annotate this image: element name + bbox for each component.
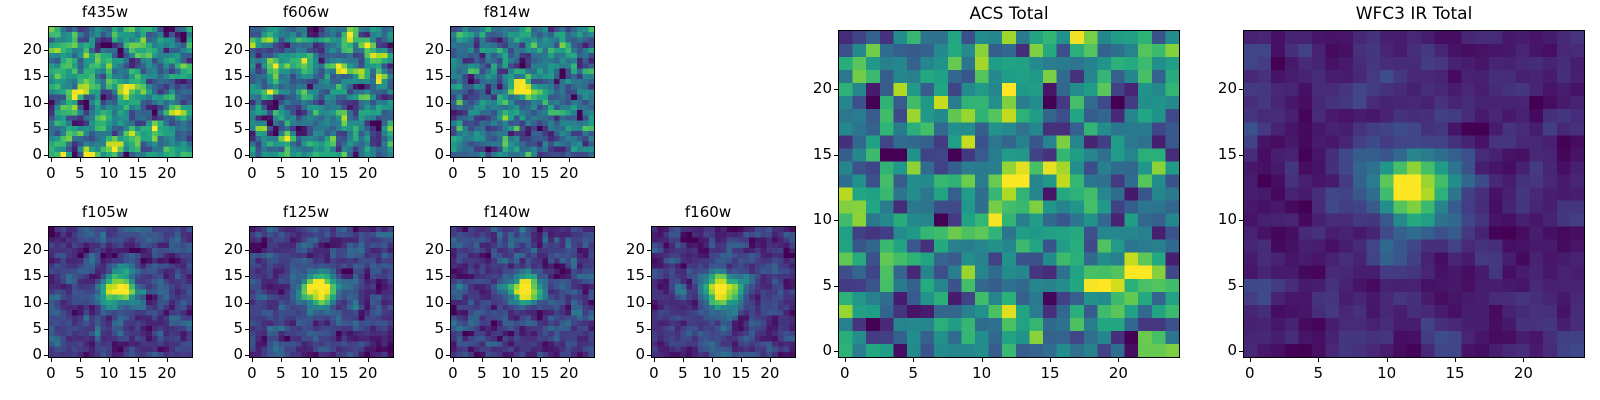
x-tick-mark	[51, 158, 52, 162]
y-tick-mark	[44, 355, 48, 356]
y-tick-mark	[245, 76, 249, 77]
x-tick-label: 10	[960, 364, 1004, 382]
y-tick-label: 5	[404, 319, 444, 337]
panel-wfc3-ir-total: WFC3 IR Total 0510152005101520	[1195, 0, 1600, 400]
y-tick-mark	[245, 303, 249, 304]
heatmap-pixels	[451, 227, 594, 357]
y-tick-mark	[44, 329, 48, 330]
y-tick-label: 10	[404, 93, 444, 111]
y-tick-label: 15	[1197, 145, 1237, 163]
y-tick-label: 20	[2, 40, 42, 58]
y-tick-mark	[446, 76, 450, 77]
x-tick-mark	[654, 358, 655, 362]
x-tick-mark	[339, 158, 340, 162]
y-tick-label: 0	[2, 345, 42, 363]
y-tick-mark	[446, 329, 450, 330]
x-tick-mark	[511, 158, 512, 162]
y-tick-label: 15	[605, 266, 645, 284]
x-tick-mark	[1050, 358, 1051, 362]
x-tick-mark	[1318, 358, 1319, 362]
panel-f606w: f606w 0510152005101520	[201, 0, 411, 200]
panel-title-f160w: f160w	[603, 203, 813, 221]
y-tick-mark	[446, 276, 450, 277]
x-tick-mark	[80, 158, 81, 162]
y-tick-mark	[834, 155, 838, 156]
x-tick-mark	[368, 158, 369, 162]
heatmap-pixels	[451, 27, 594, 157]
image-axes-wfc3-ir-total[interactable]	[1243, 30, 1585, 358]
y-tick-label: 10	[404, 293, 444, 311]
x-tick-mark	[453, 358, 454, 362]
y-tick-label: 0	[605, 345, 645, 363]
x-tick-mark	[741, 358, 742, 362]
y-tick-mark	[446, 155, 450, 156]
y-tick-label: 15	[404, 66, 444, 84]
y-tick-mark	[245, 155, 249, 156]
y-tick-label: 5	[203, 319, 243, 337]
y-tick-label: 0	[203, 145, 243, 163]
x-tick-label: 20	[1096, 364, 1140, 382]
y-tick-label: 5	[1197, 276, 1237, 294]
panel-title-wfc3-ir-total: WFC3 IR Total	[1243, 4, 1585, 24]
x-tick-label: 10	[1365, 364, 1409, 382]
x-tick-mark	[339, 358, 340, 362]
y-tick-mark	[647, 303, 651, 304]
x-tick-mark	[511, 358, 512, 362]
y-tick-mark	[446, 129, 450, 130]
y-tick-mark	[647, 276, 651, 277]
y-tick-mark	[44, 103, 48, 104]
heatmap-pixels	[652, 227, 795, 357]
y-tick-label: 0	[2, 145, 42, 163]
y-tick-mark	[834, 220, 838, 221]
y-tick-label: 20	[404, 40, 444, 58]
y-tick-mark	[834, 89, 838, 90]
image-axes-acs-total[interactable]	[838, 30, 1180, 358]
panel-title-f125w: f125w	[201, 203, 411, 221]
y-tick-mark	[44, 129, 48, 130]
image-axes-f606w[interactable]	[249, 26, 394, 158]
x-tick-mark	[281, 158, 282, 162]
y-tick-mark	[446, 50, 450, 51]
panel-title-f606w: f606w	[201, 3, 411, 21]
x-tick-mark	[482, 158, 483, 162]
x-tick-label: 0	[823, 364, 867, 382]
image-axes-f160w[interactable]	[651, 226, 796, 358]
heatmap-pixels	[839, 31, 1179, 357]
x-tick-mark	[1523, 358, 1524, 362]
image-axes-f814w[interactable]	[450, 26, 595, 158]
y-tick-label: 5	[404, 119, 444, 137]
x-tick-mark	[281, 358, 282, 362]
y-tick-mark	[245, 329, 249, 330]
x-tick-mark	[138, 158, 139, 162]
y-tick-mark	[834, 286, 838, 287]
y-tick-label: 15	[792, 145, 832, 163]
y-tick-mark	[1239, 286, 1243, 287]
x-tick-mark	[482, 358, 483, 362]
panel-f125w: f125w 0510152005101520	[201, 200, 411, 400]
panel-f160w: f160w 0510152005101520	[603, 200, 813, 400]
y-tick-mark	[245, 276, 249, 277]
y-tick-mark	[647, 355, 651, 356]
x-tick-label: 20	[346, 164, 390, 182]
image-axes-f105w[interactable]	[48, 226, 193, 358]
x-tick-mark	[569, 358, 570, 362]
x-tick-label: 20	[145, 364, 189, 382]
y-tick-mark	[245, 103, 249, 104]
panel-f435w: f435w 0510152005101520	[0, 0, 210, 200]
y-tick-mark	[1239, 351, 1243, 352]
panel-title-f140w: f140w	[402, 203, 612, 221]
x-tick-mark	[712, 358, 713, 362]
x-tick-mark	[109, 358, 110, 362]
y-tick-label: 20	[203, 40, 243, 58]
y-tick-label: 15	[404, 266, 444, 284]
x-tick-mark	[683, 358, 684, 362]
x-tick-mark	[368, 358, 369, 362]
y-tick-label: 5	[203, 119, 243, 137]
panel-f140w: f140w 0510152005101520	[402, 200, 612, 400]
x-tick-label: 20	[748, 364, 792, 382]
y-tick-label: 10	[203, 93, 243, 111]
heatmap-pixels	[49, 227, 192, 357]
y-tick-mark	[446, 303, 450, 304]
x-tick-mark	[138, 358, 139, 362]
panel-title-f435w: f435w	[0, 3, 210, 21]
y-tick-mark	[245, 50, 249, 51]
x-tick-mark	[51, 358, 52, 362]
figure-canvas: f435w 0510152005101520 f606w 05101520051…	[0, 0, 1600, 400]
x-tick-label: 5	[891, 364, 935, 382]
y-tick-mark	[1239, 220, 1243, 221]
x-tick-mark	[540, 158, 541, 162]
image-axes-f140w[interactable]	[450, 226, 595, 358]
y-tick-mark	[1239, 155, 1243, 156]
x-tick-mark	[1118, 358, 1119, 362]
y-tick-label: 10	[203, 293, 243, 311]
y-tick-mark	[44, 303, 48, 304]
x-tick-mark	[109, 158, 110, 162]
x-tick-mark	[252, 358, 253, 362]
heatmap-pixels	[1244, 31, 1584, 357]
x-tick-label: 20	[346, 364, 390, 382]
x-tick-mark	[540, 358, 541, 362]
y-tick-label: 10	[605, 293, 645, 311]
y-tick-label: 5	[792, 276, 832, 294]
x-tick-mark	[310, 158, 311, 162]
y-tick-label: 0	[404, 145, 444, 163]
y-tick-label: 5	[605, 319, 645, 337]
y-tick-label: 15	[203, 266, 243, 284]
y-tick-mark	[245, 355, 249, 356]
y-tick-mark	[245, 129, 249, 130]
y-tick-mark	[44, 276, 48, 277]
y-tick-mark	[1239, 89, 1243, 90]
y-tick-label: 5	[2, 119, 42, 137]
x-tick-mark	[310, 358, 311, 362]
image-axes-f435w[interactable]	[48, 26, 193, 158]
y-tick-label: 10	[792, 210, 832, 228]
image-axes-f125w[interactable]	[249, 226, 394, 358]
x-tick-mark	[167, 158, 168, 162]
x-tick-label: 20	[145, 164, 189, 182]
y-tick-label: 15	[2, 266, 42, 284]
x-tick-label: 5	[1296, 364, 1340, 382]
heatmap-pixels	[250, 227, 393, 357]
y-tick-label: 20	[792, 79, 832, 97]
y-tick-label: 0	[1197, 341, 1237, 359]
x-tick-mark	[982, 358, 983, 362]
y-tick-label: 15	[2, 66, 42, 84]
y-tick-label: 0	[203, 345, 243, 363]
panel-f814w: f814w 0510152005101520	[402, 0, 612, 200]
x-tick-label: 15	[1028, 364, 1072, 382]
panel-acs-total: ACS Total 0510152005101520	[790, 0, 1190, 400]
y-tick-mark	[44, 155, 48, 156]
y-tick-label: 10	[1197, 210, 1237, 228]
x-tick-label: 0	[1228, 364, 1272, 382]
y-tick-label: 10	[2, 93, 42, 111]
heatmap-pixels	[49, 27, 192, 157]
x-tick-label: 20	[547, 164, 591, 182]
x-tick-mark	[453, 158, 454, 162]
y-tick-mark	[44, 50, 48, 51]
x-tick-mark	[845, 358, 846, 362]
y-tick-label: 20	[404, 240, 444, 258]
x-tick-mark	[252, 158, 253, 162]
y-tick-mark	[44, 76, 48, 77]
x-tick-label: 15	[1433, 364, 1477, 382]
x-tick-mark	[1455, 358, 1456, 362]
y-tick-label: 0	[792, 341, 832, 359]
x-tick-mark	[770, 358, 771, 362]
panel-title-acs-total: ACS Total	[838, 4, 1180, 24]
y-tick-label: 15	[203, 66, 243, 84]
x-tick-mark	[569, 158, 570, 162]
y-tick-mark	[446, 250, 450, 251]
y-tick-mark	[44, 250, 48, 251]
y-tick-label: 20	[2, 240, 42, 258]
y-tick-mark	[647, 250, 651, 251]
heatmap-pixels	[250, 27, 393, 157]
x-tick-label: 20	[547, 364, 591, 382]
x-tick-mark	[1250, 358, 1251, 362]
y-tick-mark	[245, 250, 249, 251]
y-tick-label: 20	[1197, 79, 1237, 97]
panel-f105w: f105w 0510152005101520	[0, 200, 210, 400]
y-tick-label: 10	[2, 293, 42, 311]
y-tick-mark	[446, 103, 450, 104]
panel-title-f814w: f814w	[402, 3, 612, 21]
x-tick-mark	[1387, 358, 1388, 362]
x-tick-mark	[913, 358, 914, 362]
y-tick-label: 20	[203, 240, 243, 258]
y-tick-label: 0	[404, 345, 444, 363]
x-tick-label: 20	[1501, 364, 1545, 382]
x-tick-mark	[80, 358, 81, 362]
x-tick-mark	[167, 358, 168, 362]
y-tick-mark	[446, 355, 450, 356]
y-tick-mark	[834, 351, 838, 352]
panel-title-f105w: f105w	[0, 203, 210, 221]
y-tick-label: 5	[2, 319, 42, 337]
y-tick-mark	[647, 329, 651, 330]
y-tick-label: 20	[605, 240, 645, 258]
